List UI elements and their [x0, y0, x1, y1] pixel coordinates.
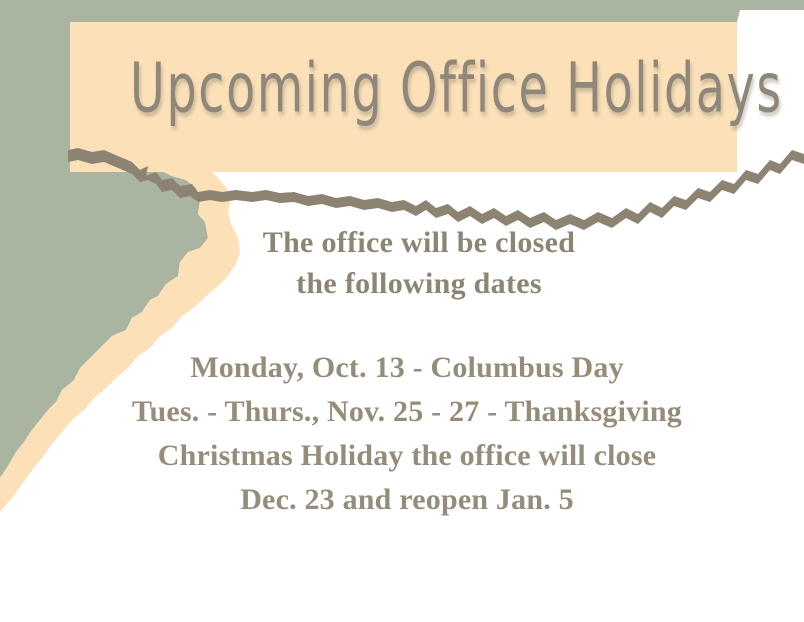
intro-line-2: the following dates — [34, 263, 804, 304]
holiday-dates-list: Monday, Oct. 13 - Columbus Day Tues. - T… — [0, 346, 804, 522]
holiday-date-christmas-close: Christmas Holiday the office will close — [10, 434, 804, 478]
holiday-date-columbus-day: Monday, Oct. 13 - Columbus Day — [10, 346, 804, 390]
holiday-date-thanksgiving: Tues. - Thurs., Nov. 25 - 27 - Thanksgiv… — [10, 390, 804, 434]
intro-line-1: The office will be closed — [34, 222, 804, 263]
holiday-date-christmas-reopen: Dec. 23 and reopen Jan. 5 — [10, 478, 804, 522]
body-text-block: The office will be closed the following … — [0, 222, 804, 522]
poster-canvas: Upcoming Office Holidays The office will… — [0, 0, 804, 622]
title-banner: Upcoming Office Holidays — [70, 22, 737, 172]
page-title: Upcoming Office Holidays — [130, 48, 677, 128]
